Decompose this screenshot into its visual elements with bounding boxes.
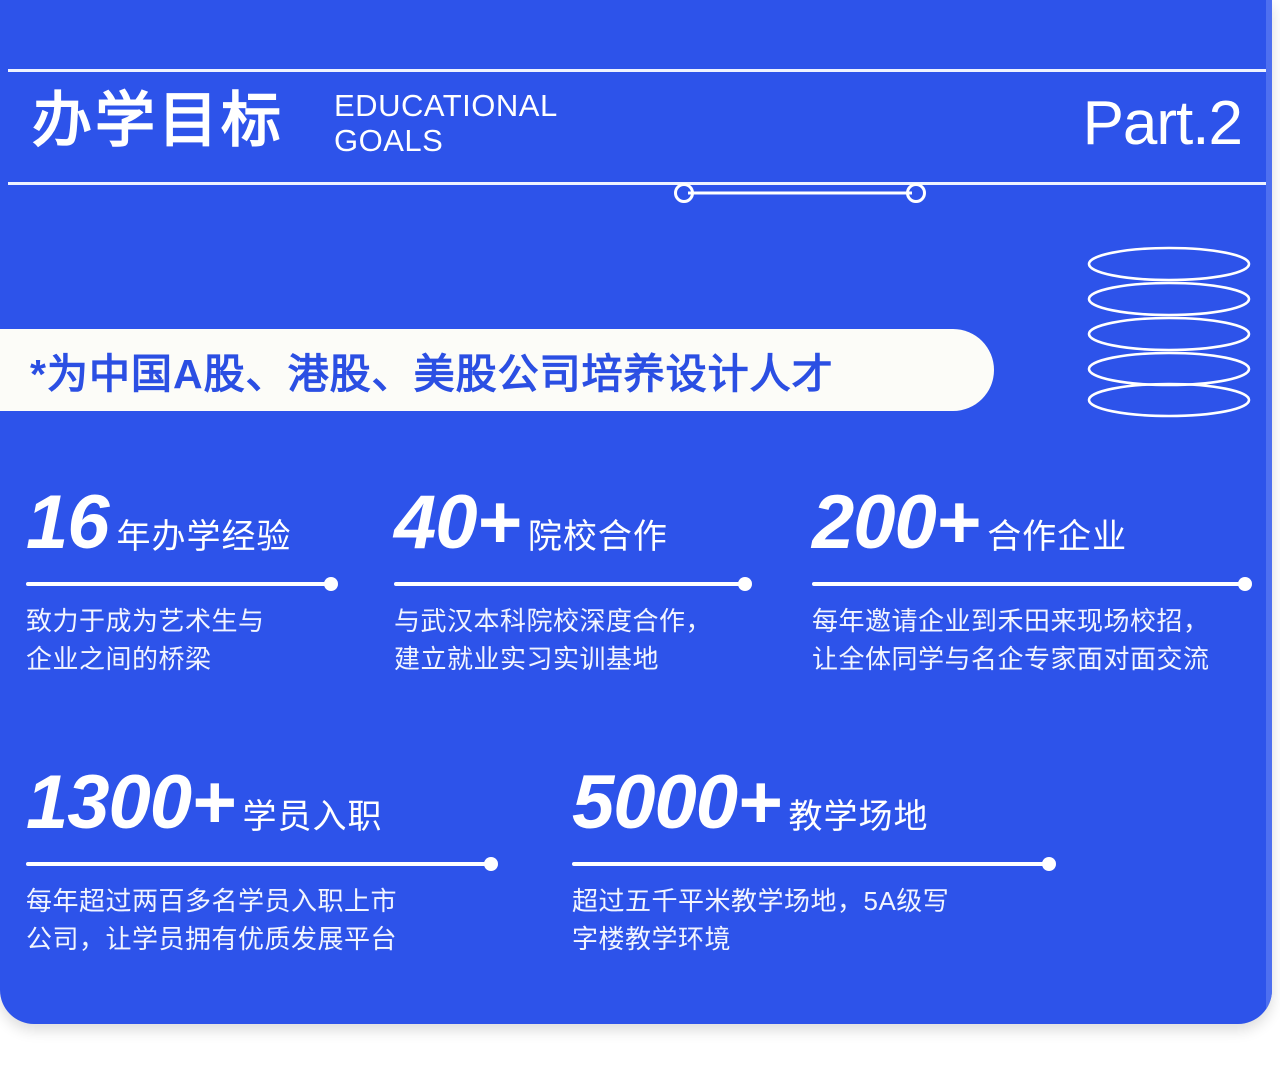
stat-unit-label: 院校合作	[528, 509, 668, 558]
highlight-banner-text: *为中国A股、港股、美股公司培养设计人才	[30, 340, 834, 400]
part-number-label: Part.2	[1083, 87, 1242, 161]
stat-underline-line	[26, 862, 491, 866]
stat-underline-dot	[484, 857, 498, 871]
header-divider-bottom	[8, 182, 1266, 185]
stat-description: 与武汉本科院校深度合作， 建立就业实习实训基地	[394, 603, 752, 678]
stat-item: 200+ 合作企业 每年邀请企业到禾田来现场校招， 让全体同学与名企专家面对面交…	[812, 485, 1252, 678]
stat-underline-line	[812, 582, 1245, 586]
header-divider-top	[8, 69, 1266, 72]
stat-underline-dot	[1042, 857, 1056, 871]
stat-unit-label: 年办学经验	[117, 509, 292, 558]
stat-item: 16 年办学经验 致力于成为艺术生与 企业之间的桥梁	[26, 485, 338, 678]
stat-description: 每年超过两百多名学员入职上市 公司，让学员拥有优质发展平台	[26, 883, 498, 958]
page-title-english: EDUCATIONAL GOALS	[334, 89, 558, 158]
stat-underline-line	[394, 582, 745, 586]
stat-underline-dot	[1238, 577, 1252, 591]
highlight-banner: *为中国A股、港股、美股公司培养设计人才	[0, 329, 994, 411]
stat-description: 致力于成为艺术生与 企业之间的桥梁	[26, 603, 338, 678]
stat-number: 200+	[812, 485, 979, 561]
blue-content-card: 办学目标 EDUCATIONAL GOALS Part.2	[0, 0, 1272, 1024]
stat-item: 5000+ 教学场地 超过五千平米教学场地，5A级写 字楼教学环境	[572, 765, 1056, 958]
stat-item: 40+ 院校合作 与武汉本科院校深度合作， 建立就业实习实训基地	[394, 485, 752, 678]
stat-description: 每年邀请企业到禾田来现场校招， 让全体同学与名企专家面对面交流	[812, 603, 1252, 678]
stat-heading: 5000+ 教学场地	[572, 765, 1056, 853]
stat-underline	[26, 577, 338, 591]
stat-description: 超过五千平米教学场地，5A级写 字楼教学环境	[572, 883, 1056, 958]
ellipse-stack-decoration-icon	[1085, 246, 1253, 423]
stat-unit-label: 合作企业	[987, 509, 1127, 558]
stat-heading: 40+ 院校合作	[394, 485, 752, 573]
stat-number: 16	[26, 485, 109, 561]
slide-page: 办学目标 EDUCATIONAL GOALS Part.2	[0, 0, 1280, 1077]
stat-heading: 200+ 合作企业	[812, 485, 1252, 573]
stat-unit-label: 学员入职	[242, 789, 382, 838]
stat-underline	[812, 577, 1252, 591]
stat-number: 1300+	[26, 765, 234, 841]
stat-underline-line	[572, 862, 1049, 866]
stat-number: 5000+	[572, 765, 780, 841]
stat-unit-label: 教学场地	[788, 789, 928, 838]
stat-underline	[26, 857, 498, 871]
page-title-chinese: 办学目标	[32, 91, 284, 151]
dumbbell-connector-icon	[672, 181, 928, 210]
stat-underline-dot	[738, 577, 752, 591]
stat-heading: 16 年办学经验	[26, 485, 338, 573]
stat-number: 40+	[394, 485, 520, 561]
stat-underline	[572, 857, 1056, 871]
section-header: 办学目标 EDUCATIONAL GOALS Part.2	[0, 69, 1272, 185]
stat-item: 1300+ 学员入职 每年超过两百多名学员入职上市 公司，让学员拥有优质发展平台	[26, 765, 498, 958]
stat-underline-line	[26, 582, 331, 586]
stat-heading: 1300+ 学员入职	[26, 765, 498, 853]
stat-underline	[394, 577, 752, 591]
stat-underline-dot	[324, 577, 338, 591]
